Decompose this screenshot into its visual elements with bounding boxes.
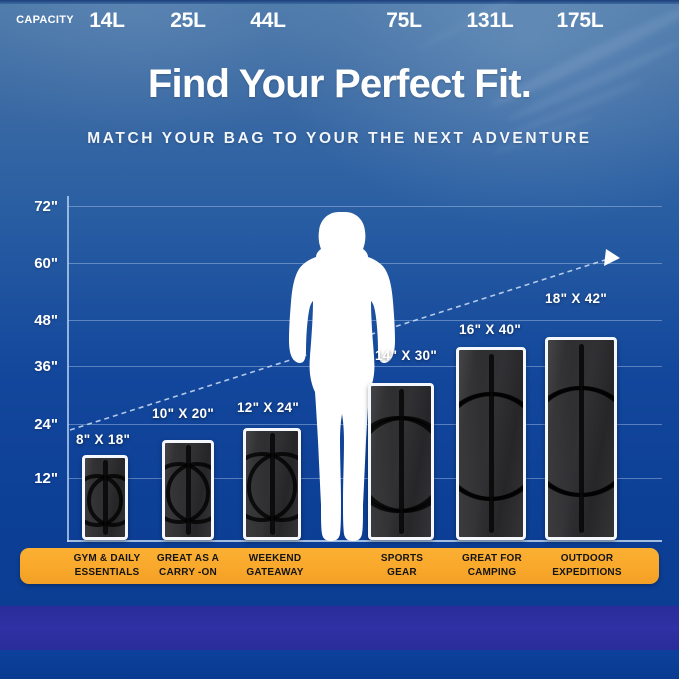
bag-zipper: [186, 445, 191, 535]
bag-bar-3[interactable]: [368, 383, 434, 540]
usecase-line1-3: SPORTS: [352, 552, 452, 566]
y-axis-tick-5: 12": [0, 470, 58, 487]
bag-zipper: [270, 433, 275, 535]
bag-zipper: [489, 354, 494, 534]
bag-bar-0[interactable]: [82, 455, 128, 540]
usecase-line2-2: GATEAWAY: [222, 566, 328, 580]
y-axis-tick-3: 36": [0, 358, 58, 375]
y-axis-tick-4: 24": [0, 416, 58, 433]
bag-zipper: [103, 460, 108, 536]
y-axis-tick-0: 72": [0, 198, 58, 215]
bag-zipper: [399, 389, 404, 534]
usecase-line1-2: WEEKEND: [222, 552, 328, 566]
bag-dimension-label-3: 14" X 30": [375, 348, 437, 363]
footer-strip: [0, 650, 679, 679]
bag-dimension-label-0: 8" X 18": [76, 432, 130, 447]
bag-bar-4[interactable]: [456, 347, 526, 540]
bag-dimension-label-1: 10" X 20": [152, 406, 214, 421]
usecase-label-3: SPORTSGEAR: [352, 552, 452, 579]
infographic-root: Find Your Perfect Fit. MATCH YOUR BAG TO…: [0, 0, 679, 679]
y-axis-line: [67, 196, 69, 542]
gridline-0: [68, 206, 662, 207]
y-axis-tick-2: 48": [0, 312, 58, 329]
capacity-strip: [0, 604, 679, 652]
capacity-value-4: 131L: [438, 9, 542, 33]
usecase-label-2: WEEKENDGATEAWAY: [222, 552, 328, 579]
bag-bar-5[interactable]: [545, 337, 617, 540]
bag-zipper: [579, 344, 584, 533]
usecase-line1-5: OUTDOOR: [528, 552, 646, 566]
bag-dimension-label-5: 18" X 42": [545, 291, 607, 306]
bag-bar-2[interactable]: [243, 428, 301, 540]
y-axis-tick-1: 60": [0, 255, 58, 272]
bag-dimension-label-2: 12" X 24": [237, 400, 299, 415]
bag-dimension-label-4: 16" X 40": [459, 322, 521, 337]
capacity-value-2: 44L: [216, 9, 320, 33]
bag-bar-1[interactable]: [162, 440, 214, 540]
usecase-label-5: OUTDOOREXPEDITIONS: [528, 552, 646, 579]
usecase-line2-3: GEAR: [352, 566, 452, 580]
usecase-line2-5: EXPEDITIONS: [528, 566, 646, 580]
capacity-value-5: 175L: [528, 9, 632, 33]
